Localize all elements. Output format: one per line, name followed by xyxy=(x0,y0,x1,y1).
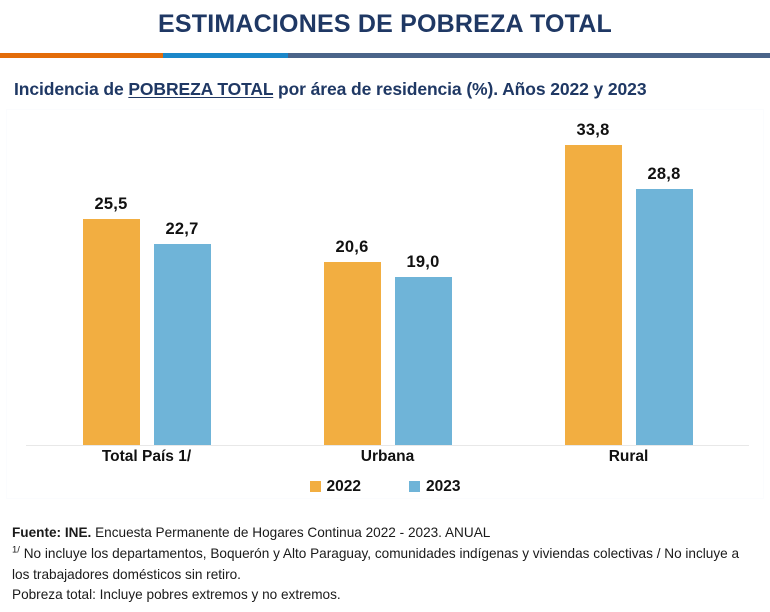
bar-group-urbana: 20,6 19,0 xyxy=(267,110,508,446)
subtitle-prefix: Incidencia de xyxy=(14,79,128,99)
bar-slot-2022: 33,8 xyxy=(565,110,622,446)
footer-note-1: 1/ No incluye los departamentos, Boqueró… xyxy=(12,544,758,585)
subtitle-emphasis: POBREZA TOTAL xyxy=(128,79,273,99)
bar-slot-2023: 28,8 xyxy=(636,110,693,446)
category-label-total-pais: Total País 1/ xyxy=(26,448,267,472)
footer-source-strong: Fuente: INE. xyxy=(12,525,91,540)
bar-value-label: 33,8 xyxy=(577,121,610,140)
bar-2022-rural[interactable] xyxy=(565,145,622,446)
page-title: ESTIMACIONES DE POBREZA TOTAL xyxy=(0,0,770,39)
legend-swatch-icon xyxy=(409,481,420,492)
bar-slot-2023: 22,7 xyxy=(154,110,211,446)
bar-value-label: 20,6 xyxy=(336,238,369,257)
bar-2023-urbana[interactable] xyxy=(395,277,452,446)
bar-value-label: 22,7 xyxy=(166,220,199,239)
footer-notes: Fuente: INE. Encuesta Permanente de Hoga… xyxy=(0,523,770,606)
bar-group-bars: 25,5 22,7 xyxy=(26,110,267,446)
bar-group-rural: 33,8 28,8 xyxy=(508,110,749,446)
bar-group-bars: 33,8 28,8 xyxy=(508,110,749,446)
bar-2022-urbana[interactable] xyxy=(324,262,381,445)
legend-item-2023[interactable]: 2023 xyxy=(409,478,460,496)
chart-subtitle: Incidencia de POBREZA TOTAL por área de … xyxy=(0,58,770,100)
footnote-1-text: No incluye los departamentos, Boquerón y… xyxy=(12,546,739,582)
footer-source-rest: Encuesta Permanente de Hogares Continua … xyxy=(91,525,490,540)
category-label-urbana: Urbana xyxy=(267,448,508,472)
category-label-rural: Rural xyxy=(508,448,749,472)
divider-segment-slate xyxy=(288,53,770,58)
bar-slot-2022: 20,6 xyxy=(324,110,381,446)
legend-item-2022[interactable]: 2022 xyxy=(310,478,361,496)
bar-chart: 25,5 22,7 20,6 19,0 xyxy=(6,109,764,499)
divider-segment-blue xyxy=(163,53,288,58)
chart-legend: 2022 2023 xyxy=(7,476,763,498)
legend-swatch-icon xyxy=(310,481,321,492)
bar-group-total-pais: 25,5 22,7 xyxy=(26,110,267,446)
bar-slot-2022: 25,5 xyxy=(83,110,140,446)
bar-value-label: 28,8 xyxy=(648,165,681,184)
legend-label-2022: 2022 xyxy=(327,478,361,496)
bar-value-label: 25,5 xyxy=(95,195,128,214)
divider-segment-orange xyxy=(0,53,163,58)
footer-source-line: Fuente: INE. Encuesta Permanente de Hoga… xyxy=(12,523,758,544)
bar-2023-rural[interactable] xyxy=(636,189,693,445)
bar-group-bars: 20,6 19,0 xyxy=(267,110,508,446)
bar-2023-total-pais[interactable] xyxy=(154,244,211,446)
footer-note-2: Pobreza total: Incluye pobres extremos y… xyxy=(12,585,758,606)
chart-baseline-axis xyxy=(26,445,749,446)
bar-value-label: 19,0 xyxy=(407,253,440,272)
subtitle-suffix: por área de residencia (%). Años 2022 y … xyxy=(273,79,646,99)
legend-label-2023: 2023 xyxy=(426,478,460,496)
header-divider-bar xyxy=(0,53,770,58)
footnote-marker: 1/ xyxy=(12,545,20,556)
bar-slot-2023: 19,0 xyxy=(395,110,452,446)
category-axis-labels: Total País 1/ Urbana Rural xyxy=(26,448,749,472)
bar-2022-total-pais[interactable] xyxy=(83,219,140,446)
chart-plot-area: 25,5 22,7 20,6 19,0 xyxy=(26,110,749,446)
